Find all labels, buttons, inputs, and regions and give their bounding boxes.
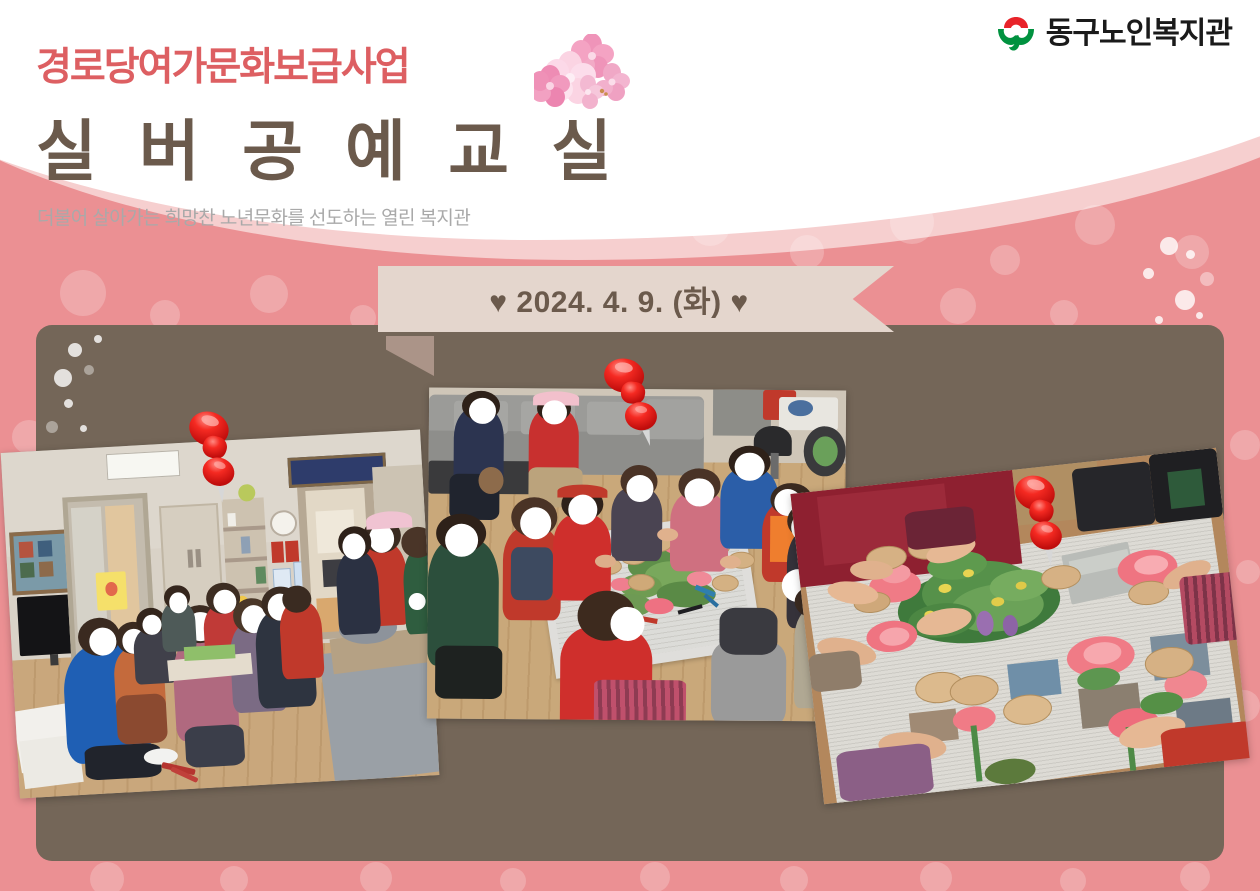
organization-name: 동구노인복지관 <box>1046 14 1232 54</box>
ribbon-body: ♥ 2024. 4. 9. (화) ♥ <box>378 266 894 332</box>
event-date: ♥ 2024. 4. 9. (화) ♥ <box>489 277 783 321</box>
photo-group-flower-arranging-circle <box>427 388 846 722</box>
welfare-center-symbol-icon <box>995 14 1037 54</box>
photo-carnation-craft-closeup <box>790 448 1249 804</box>
date-banner: ♥ 2024. 4. 9. (화) ♥ <box>378 266 894 332</box>
cherry-blossom-icon <box>534 34 644 134</box>
organization-logo: 동구노인복지관 <box>995 12 1232 56</box>
poster-canvas: 경로당여가문화보급사업 실 버 공 예 교 실 더불어 살아가는 희망찬 노년문… <box>0 0 1260 891</box>
slogan: 더불어 살아가는 희망찬 노년문화를 선도하는 열린 복지관 <box>37 203 470 230</box>
photo-community-room-craft-session <box>1 430 440 799</box>
program-label: 경로당여가문화보급사업 <box>36 36 409 92</box>
